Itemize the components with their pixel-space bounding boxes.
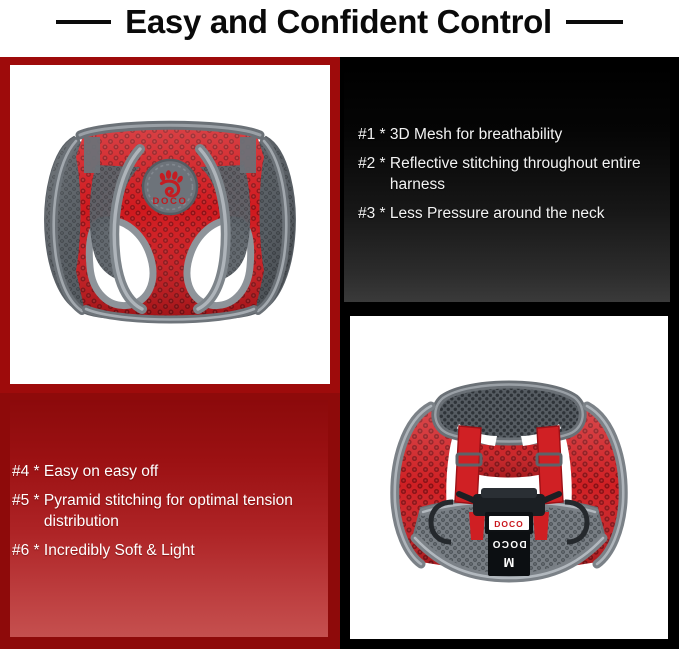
page-title: Easy and Confident Control xyxy=(125,5,552,38)
page-header: Easy and Confident Control xyxy=(0,0,679,57)
feature-text: 3D Mesh for breathability xyxy=(390,124,658,146)
feature-number: #5 * xyxy=(12,490,40,512)
features-red-list: #4 * Easy on easy off #5 * Pyramid stitc… xyxy=(12,461,312,569)
feature-text: Reflective stitching throughout entire h… xyxy=(390,153,658,196)
feature-item: #1 * 3D Mesh for breathability xyxy=(358,124,658,146)
product-image-back: DOCO M DOCO xyxy=(350,316,668,639)
feature-number: #4 * xyxy=(12,461,40,483)
feature-item: #3 * Less Pressure around the neck xyxy=(358,203,658,225)
feature-text: Incredibly Soft & Light xyxy=(44,540,312,562)
feature-number: #2 * xyxy=(358,153,386,175)
harness-neck-opening xyxy=(435,384,582,446)
product-image-back-panel: DOCO M DOCO xyxy=(340,307,679,649)
feature-text: Pyramid stitching for optimal tension di… xyxy=(44,490,312,533)
infographic-page: Easy and Confident Control xyxy=(0,0,679,649)
feature-item: #2 * Reflective stitching throughout ent… xyxy=(358,153,658,196)
feature-number: #6 * xyxy=(12,540,40,562)
harness-back-illustration: DOCO M DOCO xyxy=(373,362,645,594)
brand-patch-front: DOCO xyxy=(143,160,197,214)
feature-text: Less Pressure around the neck xyxy=(390,203,658,225)
product-image-front-panel: DOCO xyxy=(0,57,340,393)
features-red-surface: #4 * Easy on easy off #5 * Pyramid stitc… xyxy=(10,400,328,637)
header-rule-left-icon xyxy=(56,20,111,24)
feature-item: #5 * Pyramid stitching for optimal tensi… xyxy=(12,490,312,533)
features-red-panel: #4 * Easy on easy off #5 * Pyramid stitc… xyxy=(0,393,340,649)
feature-number: #3 * xyxy=(358,203,386,225)
size-tag-size: M xyxy=(504,555,515,570)
feature-item: #6 * Incredibly Soft & Light xyxy=(12,540,312,562)
features-dark-list: #1 * 3D Mesh for breathability #2 * Refl… xyxy=(358,124,658,232)
size-tag: M DOCO xyxy=(488,532,530,576)
feature-text: Easy on easy off xyxy=(44,461,312,483)
size-tag-brand: DOCO xyxy=(491,538,526,549)
header-rule-right-icon xyxy=(566,20,623,24)
brand-patch-text: DOCO xyxy=(153,196,188,207)
feature-number: #1 * xyxy=(358,124,386,146)
harness-front-illustration: DOCO xyxy=(36,111,304,339)
feature-item: #4 * Easy on easy off xyxy=(12,461,312,483)
features-dark-panel: #1 * 3D Mesh for breathability #2 * Refl… xyxy=(340,57,679,307)
product-image-front: DOCO xyxy=(10,65,330,384)
buckle-brand-label: DOCO xyxy=(494,519,524,529)
